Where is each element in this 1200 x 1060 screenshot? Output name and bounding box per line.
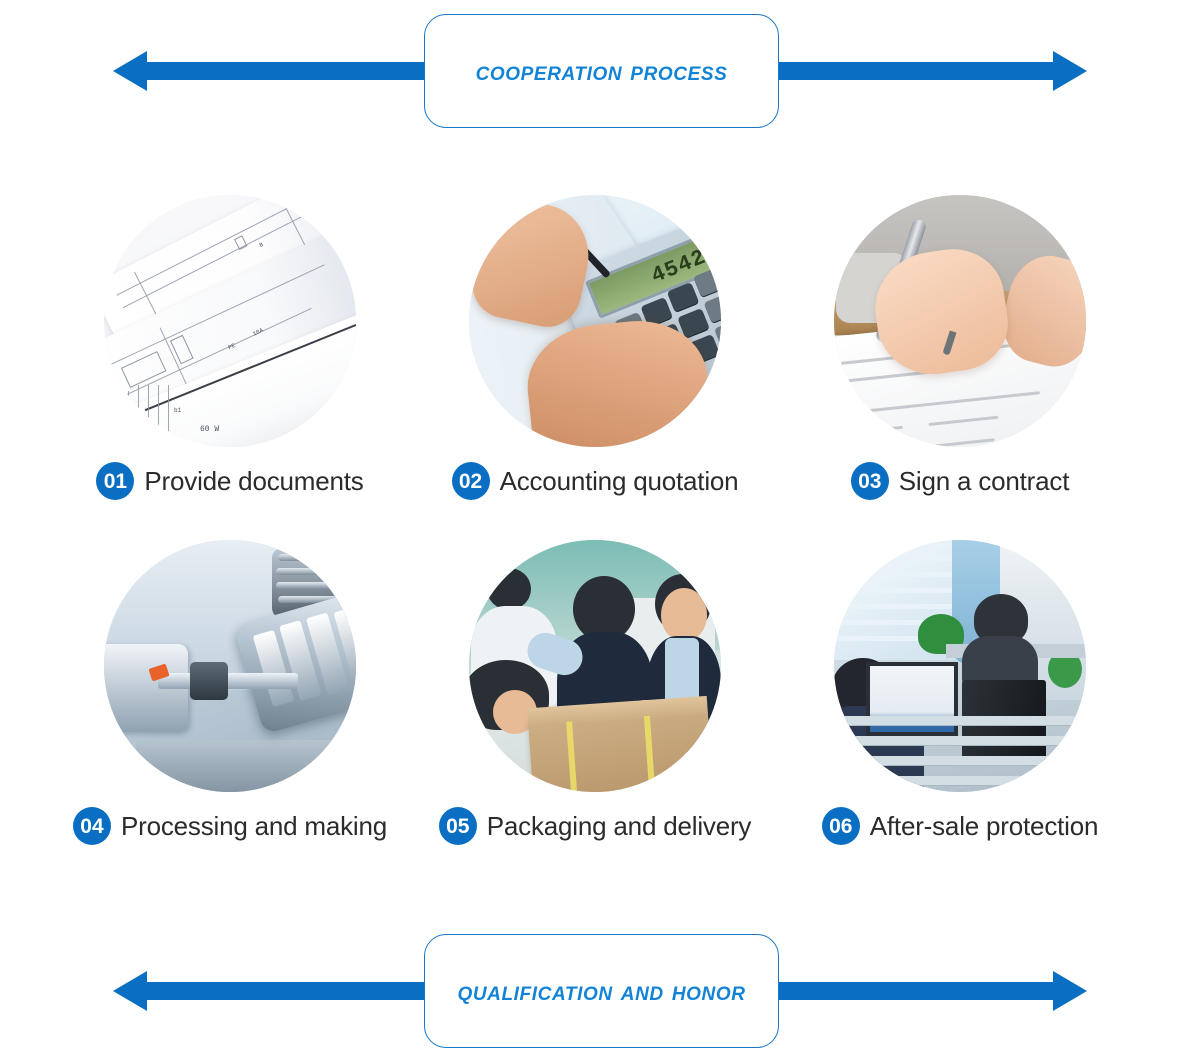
step-01-label: Provide documents [144, 466, 363, 497]
steps-grid: B PE 10A [0, 180, 1200, 880]
top-banner-title: Cooperation process [476, 56, 728, 87]
step-03-number-badge: 03 [851, 462, 889, 500]
step-05-label: Packaging and delivery [487, 811, 751, 842]
bottom-banner-box: Qualification and honor [424, 934, 779, 1048]
step-02-photo: 4542 [469, 195, 721, 447]
cnc-machining-image [104, 540, 356, 792]
step-04-photo [104, 540, 356, 792]
arrow-shaft [767, 62, 1055, 80]
step-03-caption: 03 Sign a contract [765, 462, 1155, 500]
step-03[interactable]: 03 Sign a contract [765, 180, 1155, 525]
step-05-caption: 05 Packaging and delivery [400, 807, 790, 845]
bottom-banner-right-arrow [767, 982, 1087, 1000]
step-02-number-badge: 02 [452, 462, 490, 500]
top-banner-left-arrow [113, 62, 433, 80]
signing-contract-image [834, 195, 1086, 447]
cooperation-process-infographic: Cooperation process B [0, 0, 1200, 1060]
arrow-shaft [145, 62, 433, 80]
step-06-photo [834, 540, 1086, 792]
steps-row-2: 04 Processing and making [0, 525, 1200, 870]
step-02[interactable]: 4542 [400, 180, 790, 525]
step-01[interactable]: B PE 10A [35, 180, 425, 525]
calculator-hands-image: 4542 [469, 195, 721, 447]
step-01-number-badge: 01 [96, 462, 134, 500]
step-04-label: Processing and making [121, 811, 387, 842]
arrow-right-icon [1053, 51, 1087, 91]
arrow-shaft [145, 982, 433, 1000]
bottom-banner-title: Qualification and honor [457, 976, 745, 1007]
step-05-photo [469, 540, 721, 792]
step-04-caption: 04 Processing and making [35, 807, 425, 845]
step-06-caption: 06 After-sale protection [765, 807, 1155, 845]
blueprint-rolls-image: B PE 10A [104, 195, 356, 447]
office-support-image [834, 540, 1086, 792]
step-02-label: Accounting quotation [500, 466, 739, 497]
step-04-number-badge: 04 [73, 807, 111, 845]
bottom-banner-left-arrow [113, 982, 433, 1000]
step-05[interactable]: 05 Packaging and delivery [400, 525, 790, 870]
top-banner: Cooperation process [0, 0, 1200, 140]
step-04[interactable]: 04 Processing and making [35, 525, 425, 870]
arrow-right-icon [1053, 971, 1087, 1011]
step-03-label: Sign a contract [899, 466, 1069, 497]
step-01-caption: 01 Provide documents [35, 462, 425, 500]
arrow-shaft [767, 982, 1055, 1000]
arrow-left-icon [113, 971, 147, 1011]
step-06[interactable]: 06 After-sale protection [765, 525, 1155, 870]
step-05-number-badge: 05 [439, 807, 477, 845]
bottom-banner: Qualification and honor [0, 920, 1200, 1060]
step-01-photo: B PE 10A [104, 195, 356, 447]
step-06-number-badge: 06 [822, 807, 860, 845]
packaging-delivery-image [469, 540, 721, 792]
step-06-label: After-sale protection [870, 811, 1098, 842]
top-banner-right-arrow [767, 62, 1087, 80]
top-banner-box: Cooperation process [424, 14, 779, 128]
steps-row-1: B PE 10A [0, 180, 1200, 525]
step-03-photo [834, 195, 1086, 447]
arrow-left-icon [113, 51, 147, 91]
step-02-caption: 02 Accounting quotation [400, 462, 790, 500]
